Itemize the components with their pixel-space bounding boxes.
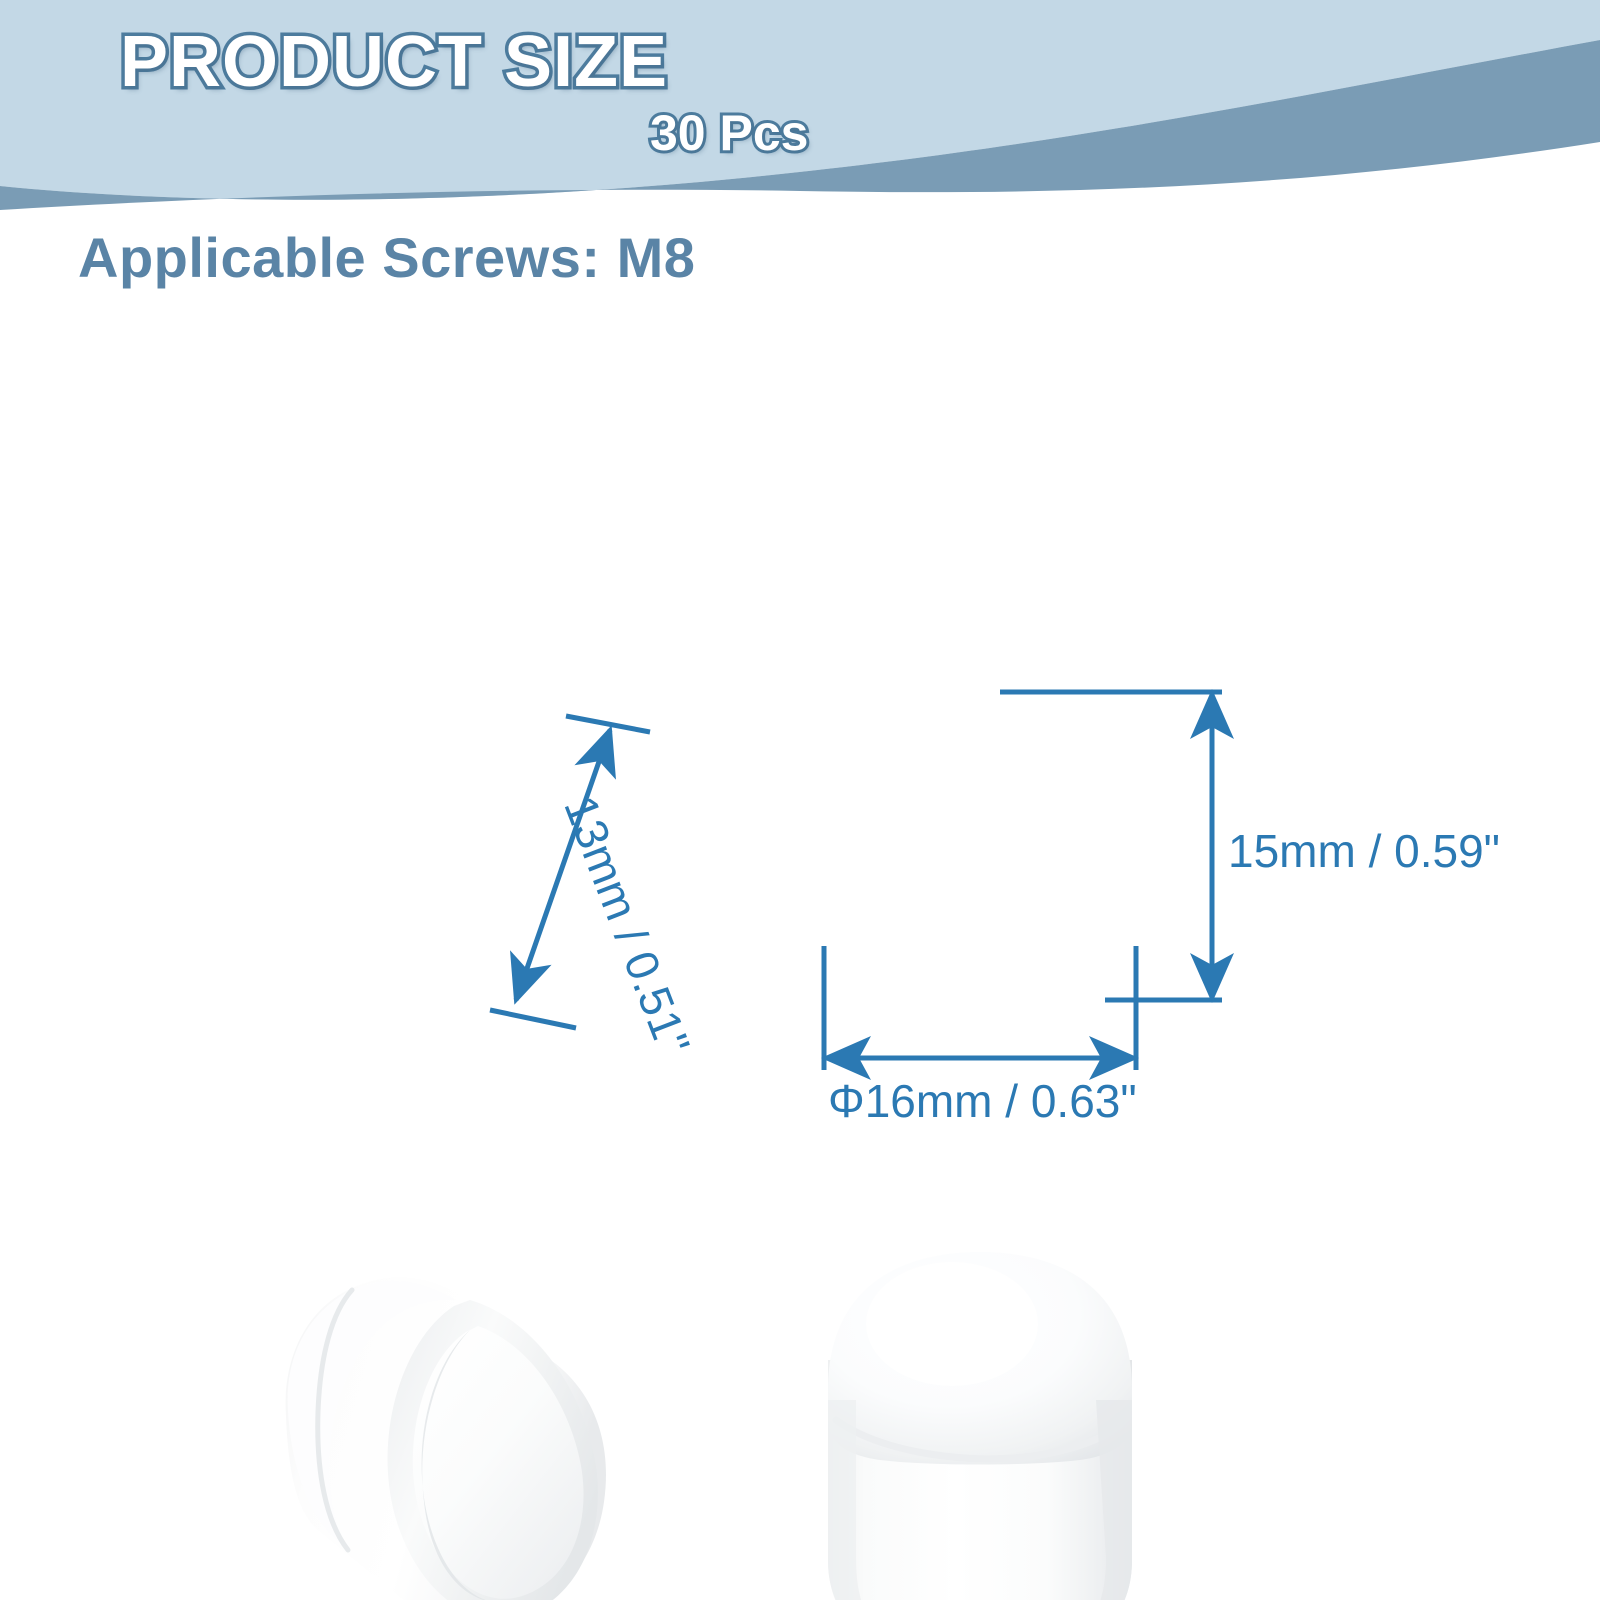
header-banner: PRODUCT SIZE 30 Pcs: [0, 0, 1600, 210]
dim-depth-tick-bottom: [490, 1010, 576, 1028]
product-illustration-area: [0, 600, 1600, 1200]
dimension-height-right: [1000, 692, 1222, 1000]
dimension-label-height: 15mm / 0.59": [1228, 828, 1500, 874]
product-image-front-cap: [824, 692, 1222, 1600]
banner-quantity-label: 30 Pcs: [650, 108, 808, 158]
banner-title: PRODUCT SIZE: [120, 26, 668, 98]
front-cap-highlight: [866, 1262, 1038, 1386]
applicable-screws-text: Applicable Screws: M8: [78, 226, 695, 290]
dimension-width-right: [824, 946, 1136, 1070]
dimension-label-diameter: Φ16mm / 0.63": [828, 1078, 1137, 1124]
